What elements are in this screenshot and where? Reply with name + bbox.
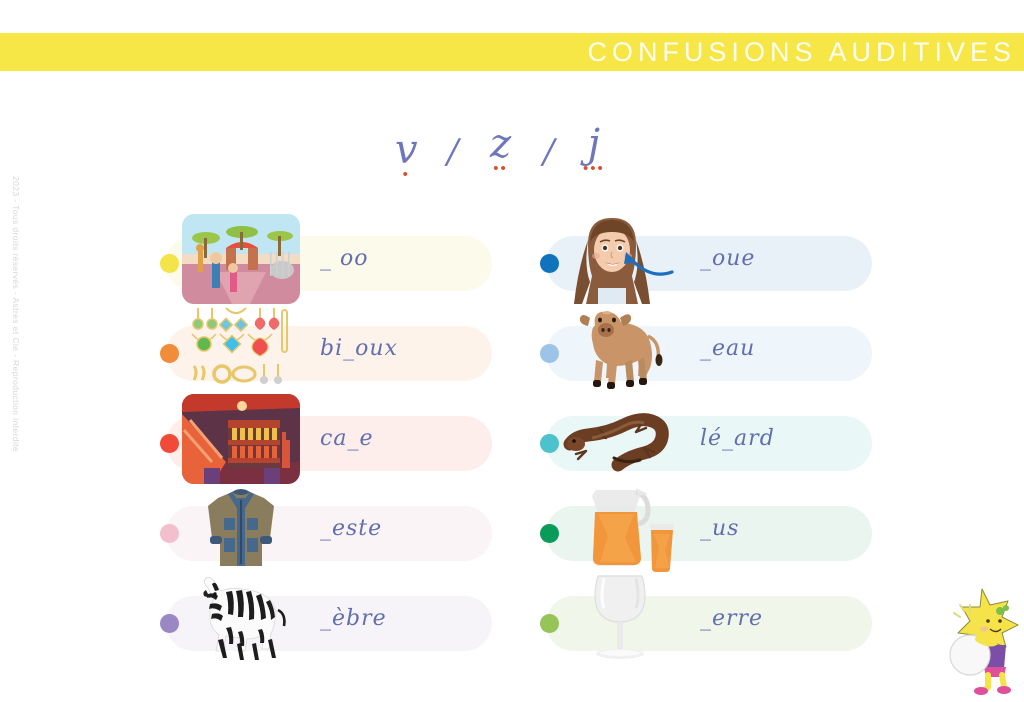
word-label: _us [700,516,739,541]
exercise-row[interactable]: _eau [540,308,890,398]
row-bullet-dot [160,524,179,543]
row-bullet-dot [160,344,179,363]
word-label: _este [320,516,382,541]
row-bullet-dot [540,524,559,543]
illustration-zoo-entrance [182,214,302,310]
word-label: bi_oux [320,336,398,361]
exercise-row[interactable]: ca_e [160,398,510,488]
letter-glyph-v: v [395,130,418,170]
row-bullet-dot [160,254,179,273]
exercise-row[interactable]: _ oo [160,218,510,308]
exercise-row[interactable]: bi_oux [160,308,510,398]
page-title: CONFUSIONS AUDITIVES [587,37,1024,68]
exercise-column-right: _oue [540,218,890,668]
word-label: ca_e [320,426,373,451]
exercise-row[interactable]: _èbre [160,578,510,668]
letter-separator-2: / [543,132,554,172]
letter-group-z: z •• [490,124,511,172]
illustration-jacket [182,484,302,580]
illustration-zebra [182,574,302,670]
illustration-wine-cellar [182,394,302,490]
exercise-row[interactable]: _us [540,488,890,578]
illustration-jewelry [182,304,302,400]
illustration-girl-cheek [562,214,682,310]
row-bullet-dot [540,344,559,363]
star-mascot-with-ball [948,583,1024,695]
row-bullet-dot [160,614,179,633]
letter-group-v: v • [395,130,418,178]
letter-group-j: j ••• [583,124,605,172]
letters-heading: v • / z •• / j ••• [385,122,635,212]
row-bullet-dot [540,254,559,273]
exercise-row[interactable]: _este [160,488,510,578]
word-label: _eau [700,336,755,361]
letter-glyph-j: j [583,124,605,164]
illustration-lizard [562,394,682,490]
letter-separator-1: / [447,132,458,172]
word-label: _erre [700,606,763,631]
row-bullet-dot [540,614,559,633]
exercise-column-left: _ oo [160,218,510,668]
letter-glyph-z: z [490,124,511,164]
word-label: _èbre [320,606,387,631]
word-label: lé_ard [700,426,775,451]
exercise-grid: _ oo [0,218,1024,648]
exercise-row[interactable]: _erre [540,578,890,668]
illustration-juice-pitcher [562,484,682,580]
illustration-calf [562,304,682,400]
letter-dots-j: ••• [583,166,605,172]
word-label: _ oo [320,246,368,271]
header-banner: CONFUSIONS AUDITIVES [0,33,1024,71]
exercise-row[interactable]: _oue [540,218,890,308]
row-bullet-dot [160,434,179,453]
illustration-wine-glass [562,574,682,670]
exercise-row[interactable]: lé_ard [540,398,890,488]
row-bullet-dot [540,434,559,453]
word-label: _oue [700,246,755,271]
